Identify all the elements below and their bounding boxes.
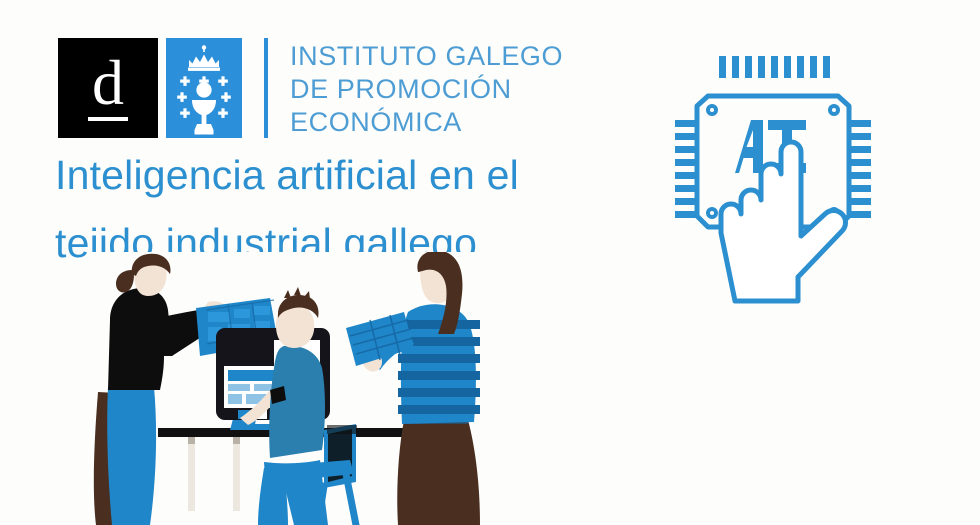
igape-logo-block: d [58, 38, 563, 146]
poster-canvas: d [0, 0, 980, 525]
logo-divider [264, 38, 268, 138]
chip-right-pins [849, 120, 871, 218]
chip-top-pins [719, 56, 830, 78]
institute-name-line-2: DE PROMOCIÓN [290, 73, 563, 106]
chip-screw-top-right [830, 106, 838, 114]
page-title-line-1: Inteligencia artificial en el [55, 142, 635, 210]
d-monogram-letter: d [88, 51, 128, 121]
chip-left-pins [675, 120, 697, 218]
chip-screw-bottom-left [708, 209, 716, 217]
institute-name: INSTITUTO GALEGO DE PROMOCIÓN ECONÓMICA [290, 38, 563, 139]
institute-name-line-1: INSTITUTO GALEGO [290, 40, 563, 73]
office-team-illustration [88, 252, 518, 525]
xunta-de-galicia-coat-of-arms-icon [166, 38, 242, 138]
d-monogram-icon: d [58, 38, 158, 138]
institute-name-line-3: ECONÓMICA [290, 106, 563, 139]
ai-chip-hand-icon [663, 48, 895, 343]
chip-screw-top-left [708, 106, 716, 114]
